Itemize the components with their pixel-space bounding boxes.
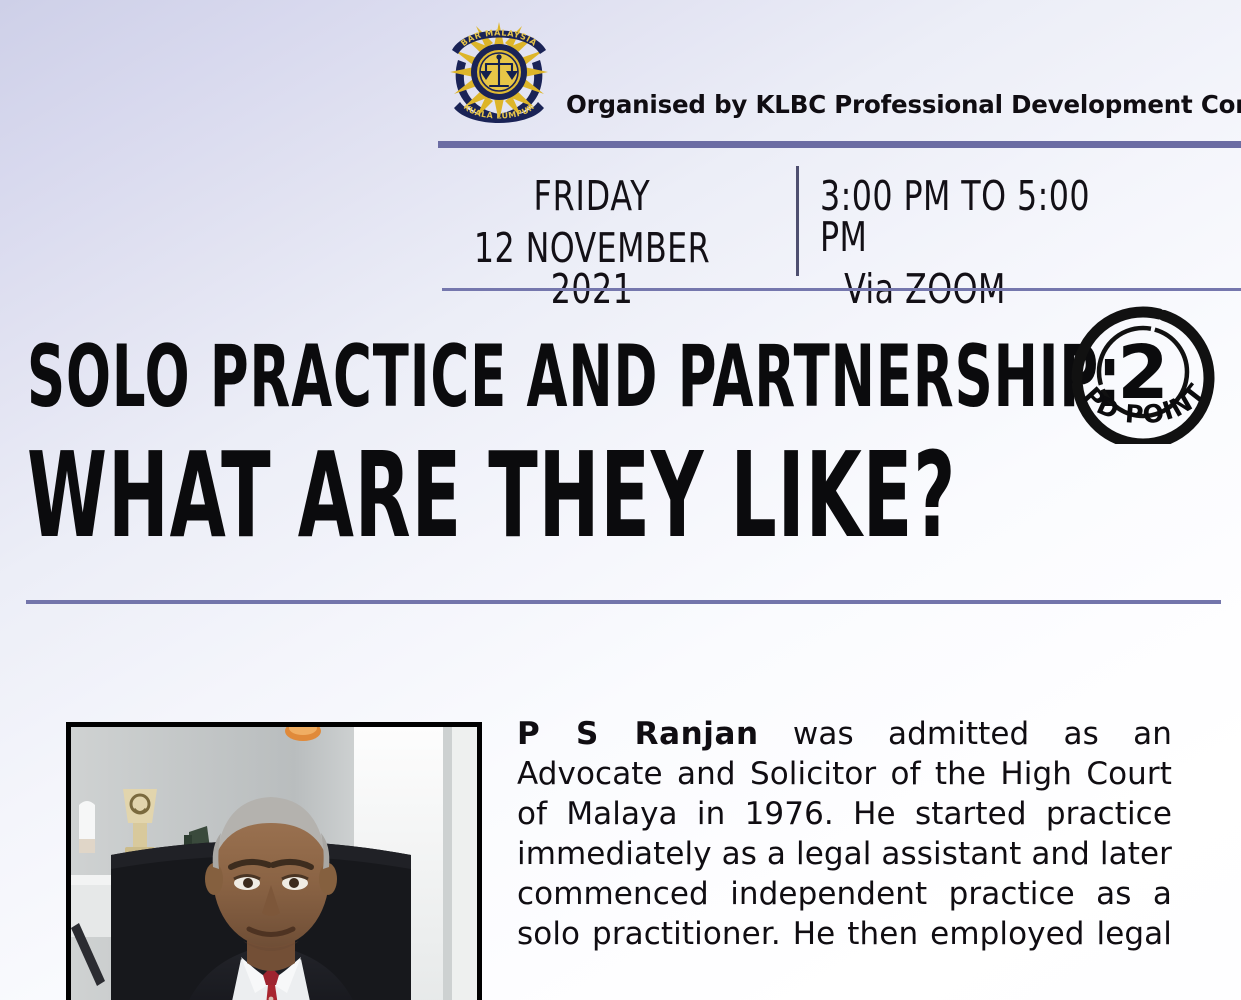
page-title-line-2: WHAT ARE THEY LIKE? bbox=[27, 436, 956, 554]
speaker-name: P S Ranjan bbox=[517, 716, 759, 752]
title-divider-rule bbox=[26, 600, 1221, 604]
organised-by-text: Organised by KLBC Professional Developme… bbox=[566, 90, 1241, 119]
poster-canvas: BAR MALAYSIA KUALA LUMPUR Organised by K… bbox=[0, 0, 1241, 1000]
event-time: 3:00 PM TO 5:00 PM bbox=[820, 176, 1143, 258]
event-day: FRIDAY bbox=[430, 176, 753, 217]
page-title-line-1: SOLO PRACTICE AND PARTNERSHIP: bbox=[27, 334, 1121, 420]
datetime-vertical-divider bbox=[796, 166, 799, 276]
cpd-points-stamp: 2 CPD POINTS bbox=[1055, 300, 1231, 444]
datetime-divider-rule bbox=[442, 288, 1241, 291]
speaker-bio: P S Ranjan was admitted as an Advocate a… bbox=[517, 714, 1172, 994]
event-date: 12 NOVEMBER 2021 bbox=[430, 228, 753, 310]
bar-malaysia-kuala-lumpur-logo-icon: BAR MALAYSIA KUALA LUMPUR bbox=[444, 16, 554, 128]
poster-header: BAR MALAYSIA KUALA LUMPUR Organised by K… bbox=[0, 0, 1241, 140]
event-datetime-section: FRIDAY 12 NOVEMBER 2021 3:00 PM TO 5:00 … bbox=[0, 160, 1241, 280]
header-divider-rule bbox=[438, 141, 1241, 148]
speaker-photo bbox=[66, 722, 482, 1000]
